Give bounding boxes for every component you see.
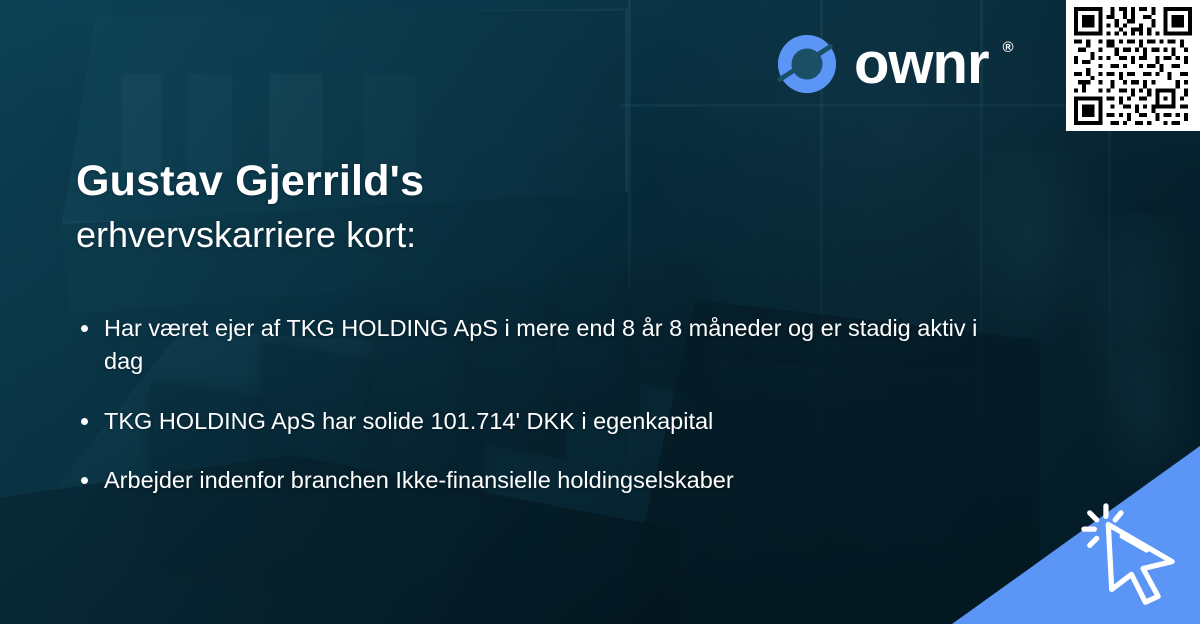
bullet-dot-icon [81, 325, 88, 332]
click-cursor-icon [1070, 492, 1186, 608]
ownr-circle-mark-icon [776, 33, 838, 95]
bullet-dot-icon [81, 418, 88, 425]
page-title: Gustav Gjerrild's [76, 156, 836, 207]
bullet-dot-icon [81, 477, 88, 484]
list-item-label: TKG HOLDING ApS har solide 101.714' DKK … [104, 408, 713, 434]
fact-list: Har været ejer af TKG HOLDING ApS i mere… [78, 312, 978, 497]
qr-code-panel[interactable] [1066, 0, 1200, 131]
registered-trademark-icon: ® [1003, 39, 1014, 56]
list-item: Arbejder indenfor branchen Ikke-finansie… [78, 464, 978, 497]
business-card: ownr ® [0, 0, 1200, 624]
ownr-logo: ownr ® [776, 33, 1014, 95]
list-item: TKG HOLDING ApS har solide 101.714' DKK … [78, 405, 978, 438]
list-item-label: Arbejder indenfor branchen Ikke-finansie… [104, 467, 734, 493]
list-item-label: Har været ejer af TKG HOLDING ApS i mere… [104, 315, 977, 374]
qr-code-icon[interactable] [1074, 7, 1192, 125]
page-subtitle: erhvervskarriere kort: [76, 213, 836, 257]
list-item: Har været ejer af TKG HOLDING ApS i mere… [78, 312, 978, 379]
ownr-wordmark: ownr [854, 35, 989, 93]
headline-block: Gustav Gjerrild's erhvervskarriere kort: [76, 156, 836, 257]
